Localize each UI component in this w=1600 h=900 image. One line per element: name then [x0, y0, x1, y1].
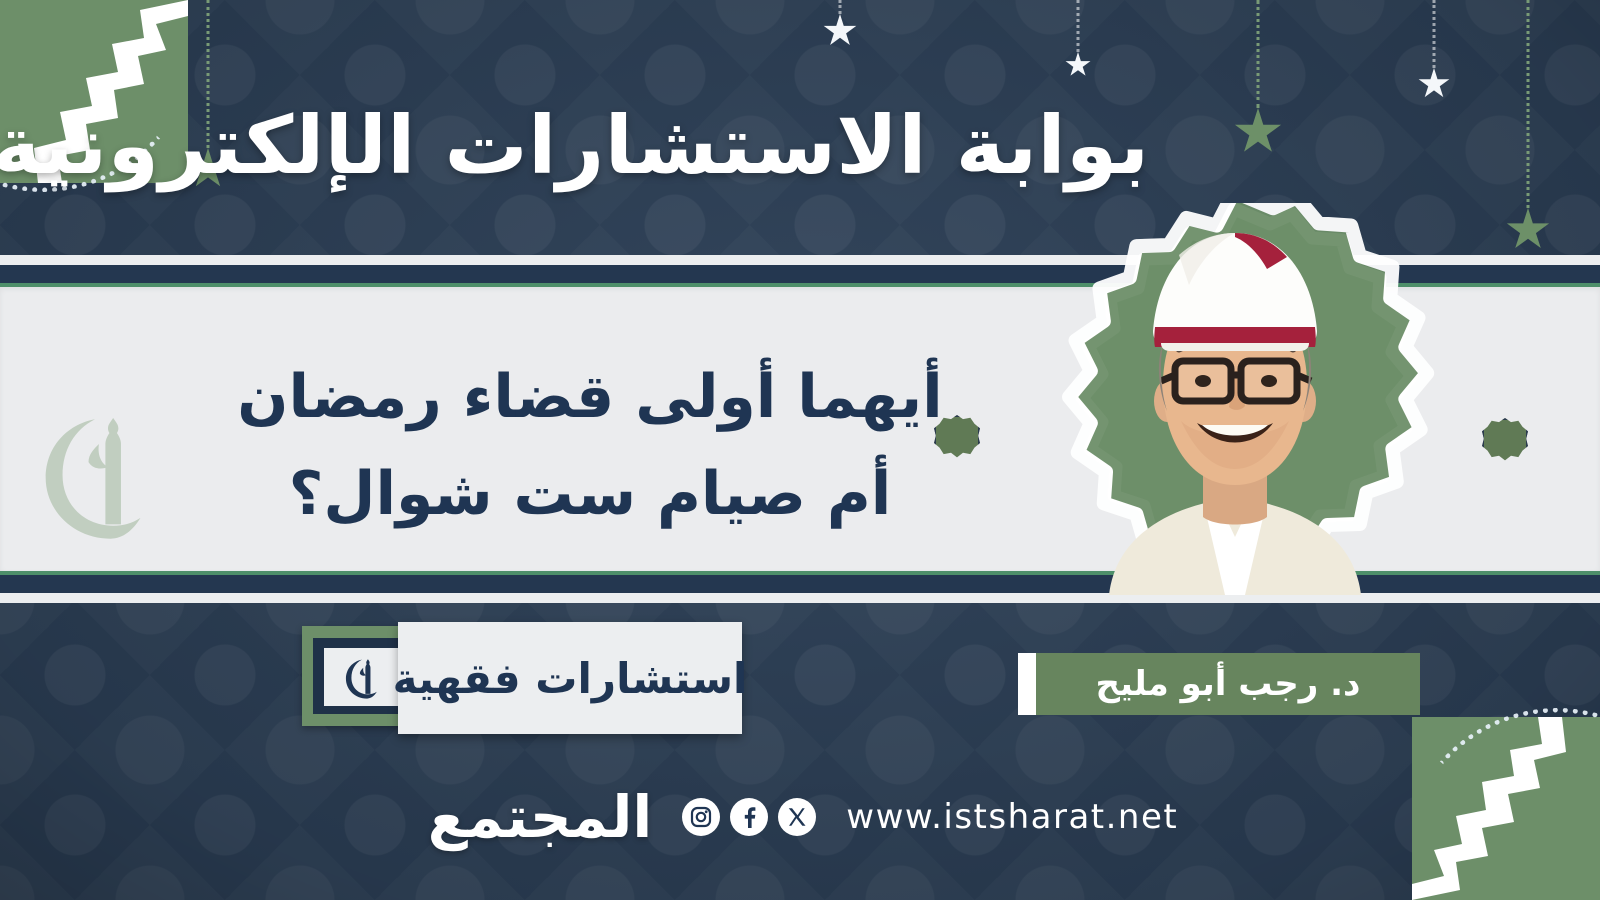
question-text: أيهما أولى قضاء رمضان أم صيام ست شوال؟: [220, 349, 960, 543]
scholar-portrait-illustration: [1069, 225, 1399, 595]
instagram-icon[interactable]: [682, 798, 720, 836]
speaker-nameplate: د. رجب أبو مليح: [1018, 653, 1420, 715]
facebook-glyph: [737, 805, 761, 829]
social-links: [682, 798, 816, 836]
crescent-minaret-watermark-icon: [30, 405, 160, 540]
x-glyph: [786, 806, 808, 828]
badge-label: استشارات فقهية: [393, 654, 748, 703]
speaker-name: د. رجب أبو مليح: [1096, 664, 1361, 704]
fiqh-consultations-badge: استشارات فقهية: [302, 622, 742, 736]
brand-logo-mujtama: المجتمع: [428, 783, 653, 851]
instagram-glyph: [689, 805, 713, 829]
speaker-portrait: [1012, 203, 1456, 617]
badge-logo-tile: [324, 648, 400, 706]
portal-title: بوابة الاستشارات الإلكترونية: [0, 99, 1149, 192]
nameplate-body: د. رجب أبو مليح: [1036, 653, 1420, 715]
poster-canvas: بوابة الاستشارات الإلكترونية أيهما أولى …: [0, 0, 1600, 900]
x-icon[interactable]: [778, 798, 816, 836]
question-line-2: أم صيام ست شوال؟: [220, 446, 960, 543]
header-calligraphy: بوابة الاستشارات الإلكترونية: [175, 58, 965, 233]
crescent-minaret-icon: [340, 655, 384, 699]
badge-label-plate: استشارات فقهية: [398, 622, 742, 734]
nameplate-accent-tab: [1018, 653, 1036, 715]
website-url[interactable]: www.istsharat.net: [846, 797, 1178, 837]
facebook-icon[interactable]: [730, 798, 768, 836]
speaker-photo: [1069, 225, 1399, 595]
question-line-1: أيهما أولى قضاء رمضان: [220, 349, 960, 446]
footer-bar: المجتمع www.istsharat.net: [0, 762, 1600, 872]
